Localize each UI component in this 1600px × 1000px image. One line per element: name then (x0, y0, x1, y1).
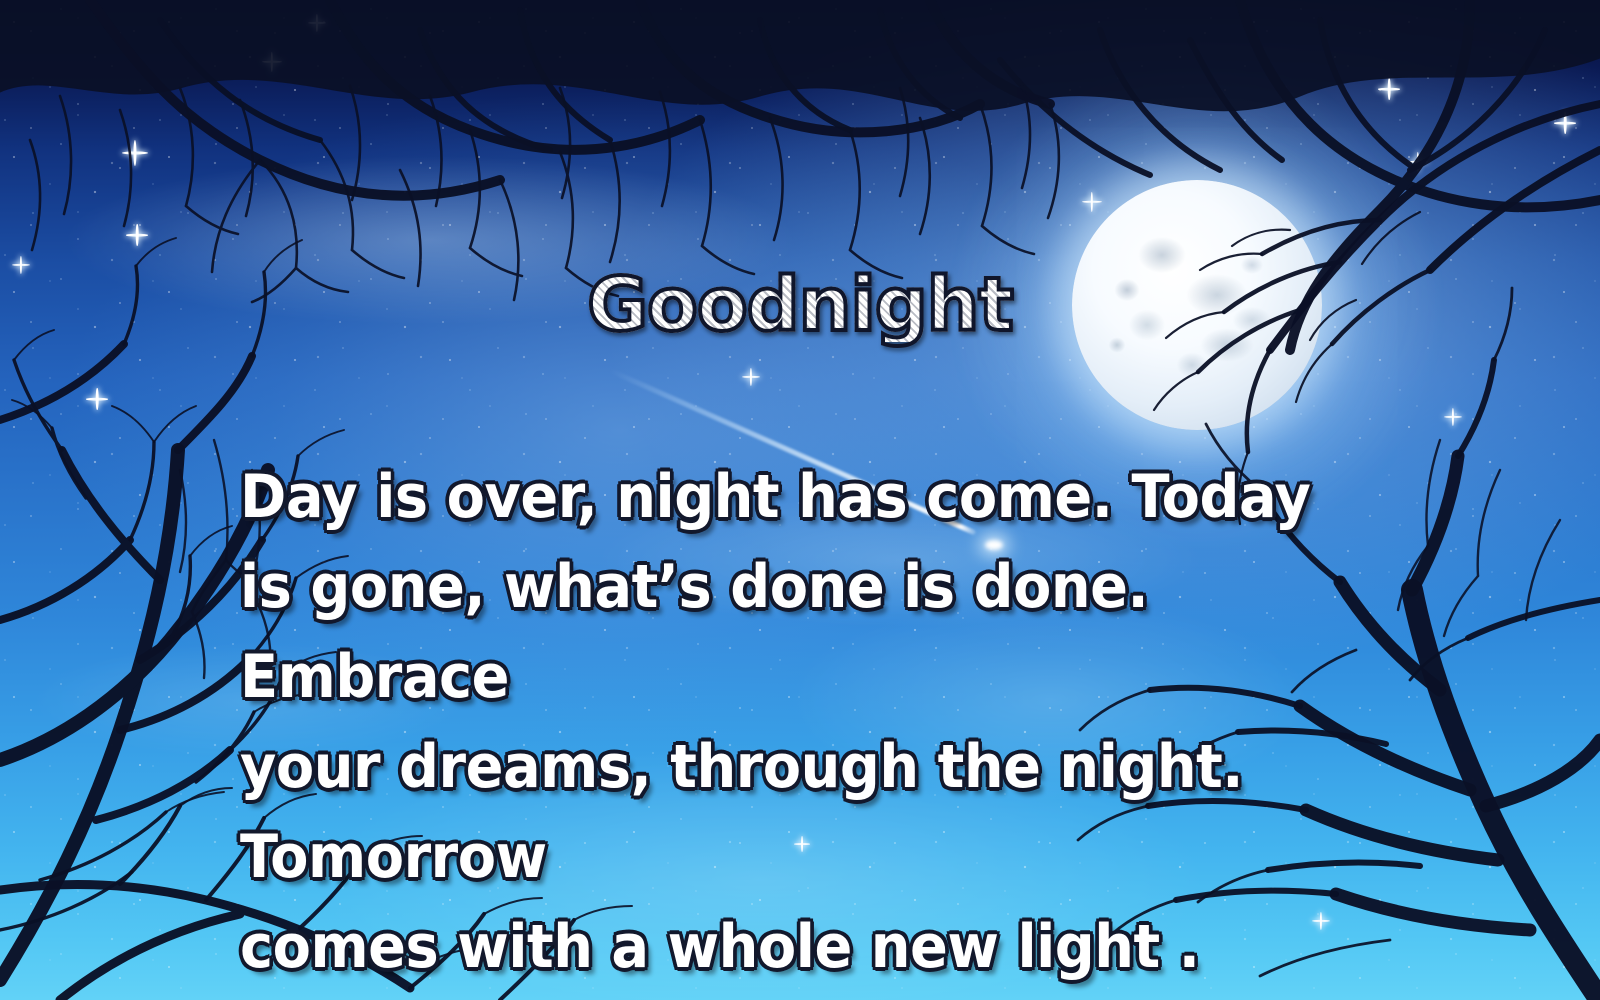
page-title: Goodnight (587, 268, 1012, 342)
goodnight-card: Goodnight Day is over, night has come. T… (0, 0, 1600, 1000)
quote-text: Day is over, night has come. Today is go… (240, 452, 1412, 992)
title-container: Goodnight (0, 268, 1600, 342)
